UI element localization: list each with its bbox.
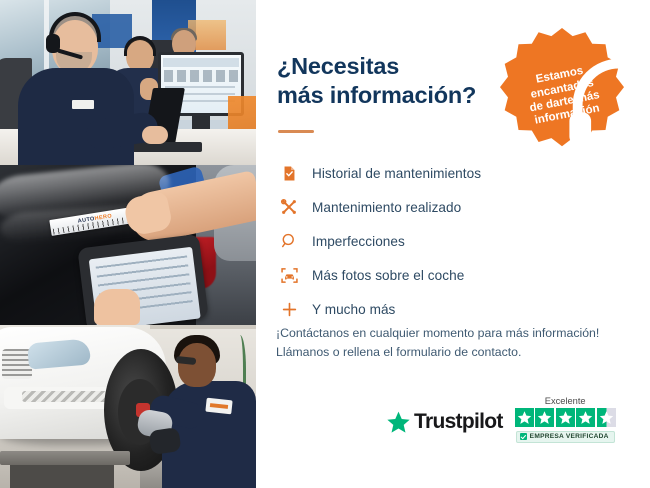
mechanic-head bbox=[178, 343, 216, 387]
car-lift-arm bbox=[0, 451, 130, 465]
star-half bbox=[597, 408, 616, 427]
list-item: Mantenimiento realizado bbox=[276, 190, 576, 224]
car-headlight bbox=[27, 338, 91, 369]
magnifier-icon bbox=[276, 232, 302, 250]
page-title-line-2: más información? bbox=[277, 82, 476, 108]
list-item: Más fotos sobre el coche bbox=[276, 258, 576, 292]
verified-check-icon bbox=[520, 433, 527, 440]
car-lift-base bbox=[10, 465, 114, 488]
crossed-tools-icon bbox=[276, 198, 302, 216]
status-badge: EMPRESA VERIFICADA bbox=[516, 431, 615, 443]
list-item-label: Historial de mantenimientos bbox=[312, 166, 481, 181]
car-scan-icon bbox=[276, 266, 302, 285]
trustpilot-stars bbox=[515, 408, 616, 427]
title-accent-bar bbox=[278, 130, 314, 133]
star-filled bbox=[576, 408, 595, 427]
mechanic-wheel-photo bbox=[0, 325, 256, 488]
support-badge-text: Estamos encantados de darte más informac… bbox=[489, 15, 634, 160]
monitor-screen-tiles bbox=[164, 70, 238, 82]
monitor-stand bbox=[192, 116, 210, 130]
document-check-icon bbox=[276, 165, 302, 182]
trustpilot-wordmark: Trustpilot bbox=[414, 410, 503, 434]
contact-line-1: ¡Contáctanos en cualquier momento para m… bbox=[276, 324, 636, 343]
trustpilot-logo[interactable]: Trustpilot bbox=[386, 410, 503, 435]
verified-label: EMPRESA VERIFICADA bbox=[530, 433, 609, 440]
inspector-hand-holding-tablet bbox=[94, 289, 140, 325]
trustpilot-rating: Excelente bbox=[515, 396, 616, 443]
star-filled bbox=[556, 408, 575, 427]
content-panel: ¿Necesitasmás información? Estamos encan… bbox=[256, 0, 650, 488]
trustpilot-star-icon bbox=[386, 410, 411, 435]
support-badge: Estamos encantados de darte más informac… bbox=[500, 26, 624, 150]
contact-text: ¡Contáctanos en cualquier momento para m… bbox=[276, 324, 636, 361]
photo-column: AUTOHERO bbox=[0, 0, 256, 488]
page-title: ¿Necesitasmás información? bbox=[277, 52, 517, 109]
call-center-agents-photo bbox=[0, 0, 256, 165]
laptop-base bbox=[128, 142, 202, 152]
mechanic-uniform-badge bbox=[205, 398, 232, 415]
monitor-screen-toolbar bbox=[163, 58, 239, 67]
list-item-label: Y mucho más bbox=[312, 302, 395, 317]
vehicle-inspection-photo: AUTOHERO bbox=[0, 165, 256, 325]
list-item-label: Más fotos sobre el coche bbox=[312, 268, 464, 283]
contact-line-2: Llámanos o rellena el formulario de cont… bbox=[276, 343, 636, 362]
list-item: Historial de mantenimientos bbox=[276, 156, 576, 190]
list-item: Imperfecciones bbox=[276, 224, 576, 258]
promo-card: AUTOHERO bbox=[0, 0, 650, 488]
wall-trim bbox=[150, 325, 256, 329]
page-title-line-1: ¿Necesitas bbox=[277, 53, 399, 79]
star-filled bbox=[535, 408, 554, 427]
feature-list: Historial de mantenimientos M bbox=[276, 156, 576, 326]
agent-1-name-badge bbox=[72, 100, 94, 109]
agent-1-hand bbox=[142, 126, 168, 144]
list-item: Y mucho más bbox=[276, 292, 576, 326]
trustpilot-rating-word: Excelente bbox=[545, 396, 586, 406]
trustpilot-widget[interactable]: Trustpilot Excelente bbox=[386, 386, 616, 452]
plus-icon bbox=[276, 300, 302, 319]
list-item-label: Imperfecciones bbox=[312, 234, 405, 249]
star-filled bbox=[515, 408, 534, 427]
list-item-label: Mantenimiento realizado bbox=[312, 200, 461, 215]
car-bumper-vent bbox=[22, 391, 114, 402]
